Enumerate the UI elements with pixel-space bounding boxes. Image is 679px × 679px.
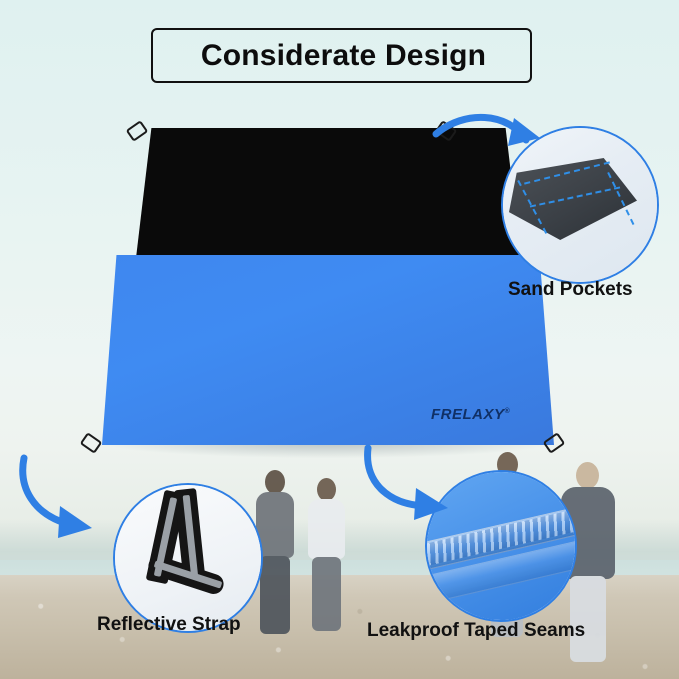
person-head xyxy=(265,470,285,494)
callout-label-reflective-strap: Reflective Strap xyxy=(97,614,241,636)
person-legs xyxy=(312,557,341,631)
person-legs xyxy=(260,556,290,634)
brand-name: FRELAXY xyxy=(431,406,505,423)
person-figure xyxy=(305,478,349,640)
brand-logo: FRELAXY® xyxy=(431,406,510,423)
title-box: Considerate Design xyxy=(151,28,532,83)
page-title: Considerate Design xyxy=(153,30,534,85)
callout-reflective-strap-image xyxy=(113,483,263,633)
infographic-canvas: Considerate Design FRELAXY® Sand Pockets xyxy=(0,0,679,679)
brand-superscript: ® xyxy=(505,408,511,415)
person-head xyxy=(317,478,336,501)
person-legs xyxy=(570,576,606,662)
arrow-to-sand-pockets xyxy=(430,112,540,182)
arrow-to-reflective-strap xyxy=(16,452,128,542)
callout-label-sand-pockets: Sand Pockets xyxy=(508,279,633,301)
person-torso xyxy=(308,499,345,559)
arrow-to-taped-seams xyxy=(362,440,472,518)
person-head xyxy=(576,462,599,489)
corner-loop-top-left xyxy=(126,120,149,142)
callout-label-taped-seams: Leakproof Taped Seams xyxy=(367,620,585,642)
reflective-strap-photo xyxy=(113,483,263,633)
